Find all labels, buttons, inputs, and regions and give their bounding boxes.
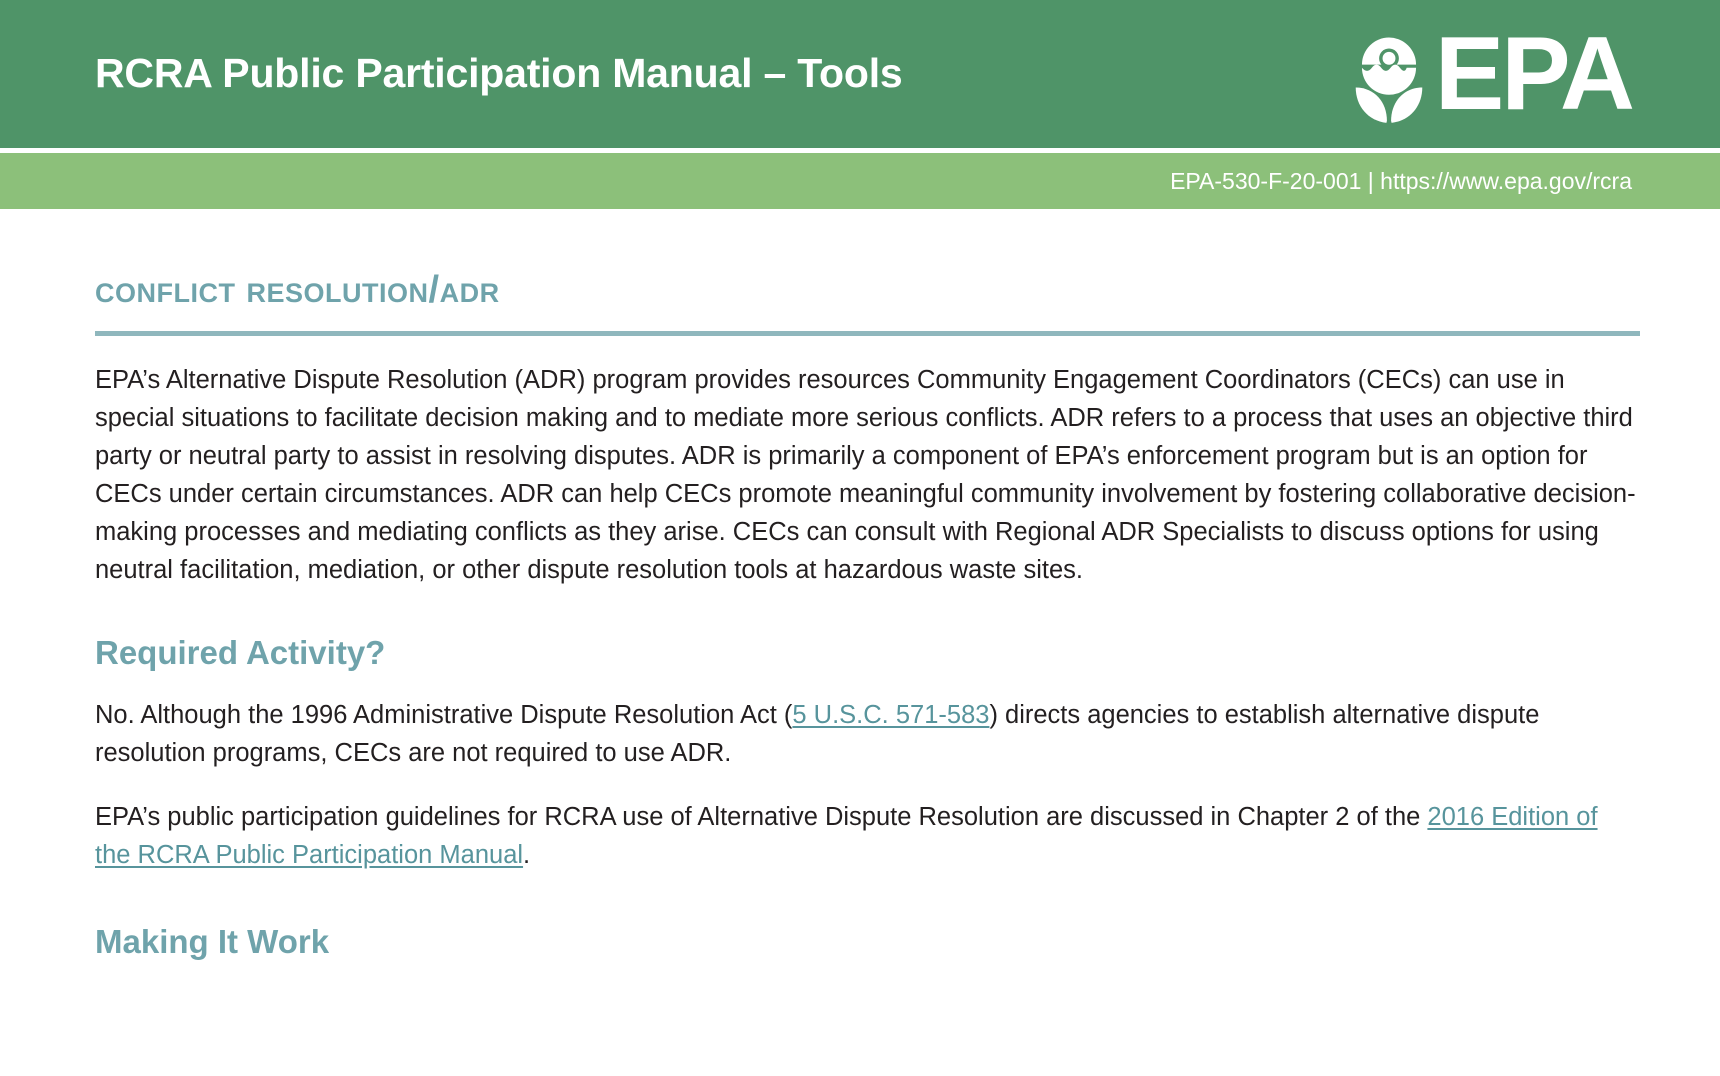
- epa-seal-icon: [1337, 23, 1441, 127]
- page-title: RCRA Public Participation Manual – Tools: [95, 51, 903, 96]
- epa-wordmark: EPA: [1435, 32, 1632, 117]
- required-activity-paragraph: No. Although the 1996 Administrative Dis…: [95, 696, 1640, 772]
- making-it-work-heading: Making It Work: [95, 924, 1640, 960]
- guidelines-paragraph: EPA’s public participation guidelines fo…: [95, 798, 1640, 874]
- usc-statute-link[interactable]: 5 U.S.C. 571-583: [792, 701, 989, 729]
- guidelines-text-before-link: EPA’s public participation guidelines fo…: [95, 803, 1427, 831]
- document-body: Conflict Resolution/ADR EPA’s Alternativ…: [95, 209, 1640, 961]
- required-activity-text-before-link: No. Although the 1996 Administrative Dis…: [95, 701, 792, 729]
- guidelines-text-after-link: .: [523, 841, 530, 869]
- required-activity-heading: Required Activity?: [95, 635, 1640, 671]
- epa-logo: EPA: [1337, 21, 1632, 129]
- section-heading-rule: [95, 331, 1640, 336]
- intro-paragraph: EPA’s Alternative Dispute Resolution (AD…: [95, 361, 1640, 589]
- section-heading: Conflict Resolution/ADR: [95, 271, 1640, 309]
- page-header: RCRA Public Participation Manual – Tools…: [0, 0, 1720, 148]
- document-page: RCRA Public Participation Manual – Tools…: [0, 0, 1720, 1076]
- document-id-text: EPA-530-F-20-001 | https://www.epa.gov/r…: [1170, 168, 1632, 195]
- document-id-band: EPA-530-F-20-001 | https://www.epa.gov/r…: [0, 153, 1720, 209]
